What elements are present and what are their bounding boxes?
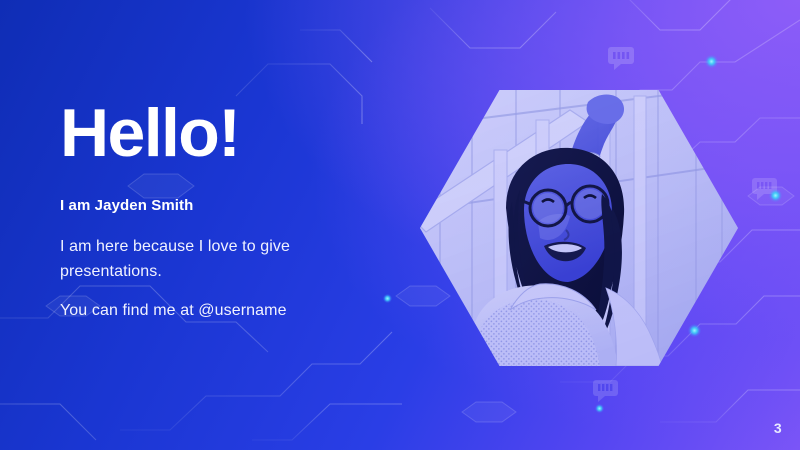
portrait-image-mask — [420, 90, 738, 366]
presentation-slide: Hello! I am Jayden Smith I am here becau… — [0, 0, 800, 450]
glow-dot — [595, 404, 604, 413]
page-title: Hello! — [60, 96, 390, 170]
portrait-illustration — [420, 90, 738, 366]
glow-dot — [769, 189, 782, 202]
page-number: 3 — [774, 420, 782, 436]
speaker-name: I am Jayden Smith — [60, 196, 390, 216]
portrait-hexagon — [420, 90, 738, 366]
glow-dot — [705, 55, 718, 68]
slide-text-block: Hello! I am Jayden Smith I am here becau… — [60, 96, 390, 323]
intro-line-2: You can find me at @username — [60, 298, 350, 323]
intro-line-1: I am here because I love to give present… — [60, 234, 350, 284]
